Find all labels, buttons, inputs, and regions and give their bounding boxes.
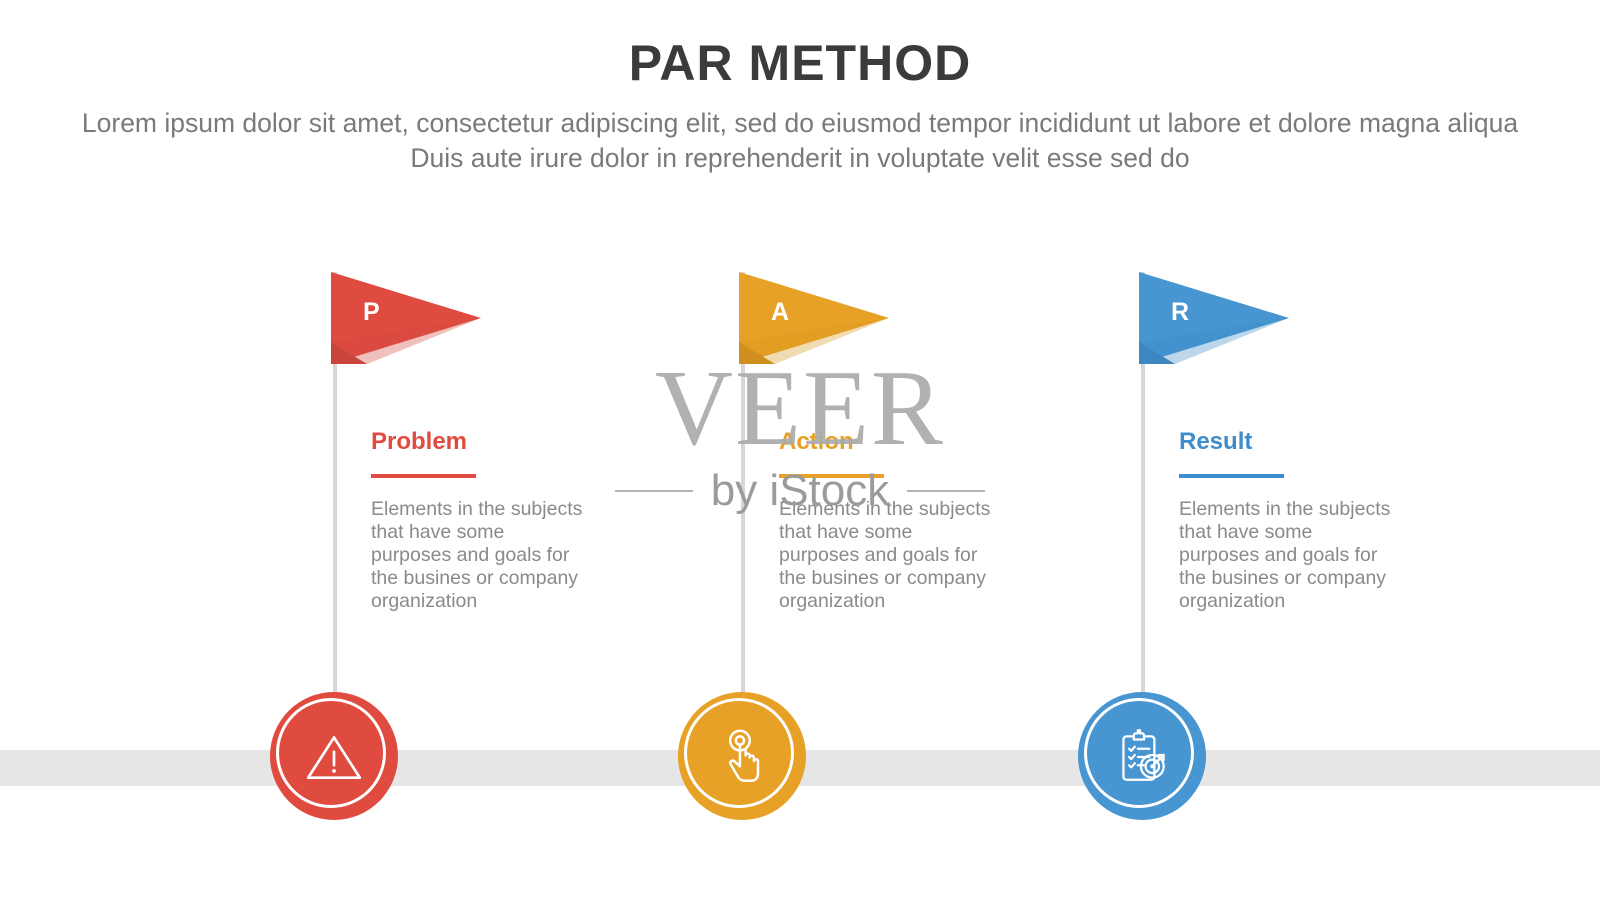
heading-underline — [779, 474, 884, 478]
step-heading: Result — [1179, 430, 1409, 454]
step-badge-result[interactable] — [1078, 692, 1206, 820]
heading-underline — [371, 474, 476, 478]
flag-marker-problem[interactable]: P — [331, 272, 481, 364]
flag-marker-action[interactable]: A — [739, 272, 889, 364]
step-heading-block: Result — [1179, 430, 1409, 478]
step-column-problem: P Problem Elements in the subjects that … — [133, 0, 533, 900]
flag-letter: R — [1171, 300, 1189, 325]
flag-marker-result[interactable]: R — [1139, 272, 1289, 364]
clipboard-target-icon — [1109, 723, 1175, 789]
hand-tap-click-icon — [709, 723, 775, 789]
flag-letter: P — [363, 300, 380, 325]
steps-container: P Problem Elements in the subjects that … — [0, 0, 1600, 900]
step-column-result: R Result Elements in the subjects that h… — [941, 0, 1341, 900]
heading-underline — [1179, 474, 1284, 478]
step-badge-action[interactable] — [678, 692, 806, 820]
flag-letter: A — [771, 300, 789, 325]
step-description: Elements in the subjects that have some … — [1179, 498, 1397, 613]
step-column-action: A Action Elements in the subjects that h… — [541, 0, 941, 900]
warning-triangle-icon — [301, 723, 367, 789]
step-badge-problem[interactable] — [270, 692, 398, 820]
infographic-canvas: PAR METHOD Lorem ipsum dolor sit amet, c… — [0, 0, 1600, 900]
